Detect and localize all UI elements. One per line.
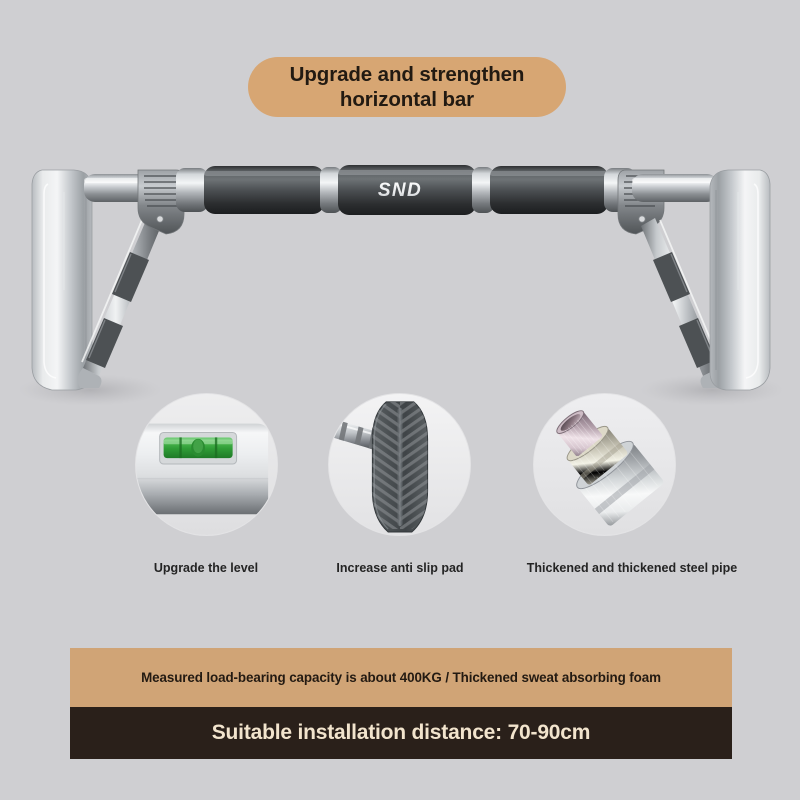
anti-slip-pad [368, 398, 431, 535]
right-wall-mount [710, 170, 770, 390]
main-horizontal-bar: SND [176, 165, 636, 215]
header-title-pill: Upgrade and strengthen horizontal bar [248, 57, 566, 117]
left-wall-mount [32, 170, 92, 390]
feature-caption-level: Upgrade the level [154, 561, 258, 575]
product-feature-image: Upgrade and strengthen horizontal bar [0, 0, 800, 800]
header-title-line-2: horizontal bar [340, 87, 474, 112]
header-title-line-1: Upgrade and strengthen [290, 62, 525, 87]
feature-circle-anti-slip-pad [328, 393, 471, 536]
feature-caption-steel-pipe: Thickened and thickened steel pipe [527, 561, 737, 575]
load-capacity-banner: Measured load-bearing capacity is about … [70, 648, 732, 707]
installation-distance-text: Suitable installation distance: 70-90cm [212, 721, 591, 745]
load-capacity-text: Measured load-bearing capacity is about … [141, 670, 661, 685]
feature-caption-anti-slip-pad: Increase anti slip pad [336, 561, 463, 575]
installation-distance-banner: Suitable installation distance: 70-90cm [70, 707, 732, 759]
feature-circle-steel-pipe [533, 393, 676, 536]
feature-circle-level [135, 393, 278, 536]
product-illustration: SND [0, 140, 800, 415]
brand-logo: SND [378, 180, 422, 201]
right-horizontal-arm [632, 174, 718, 202]
